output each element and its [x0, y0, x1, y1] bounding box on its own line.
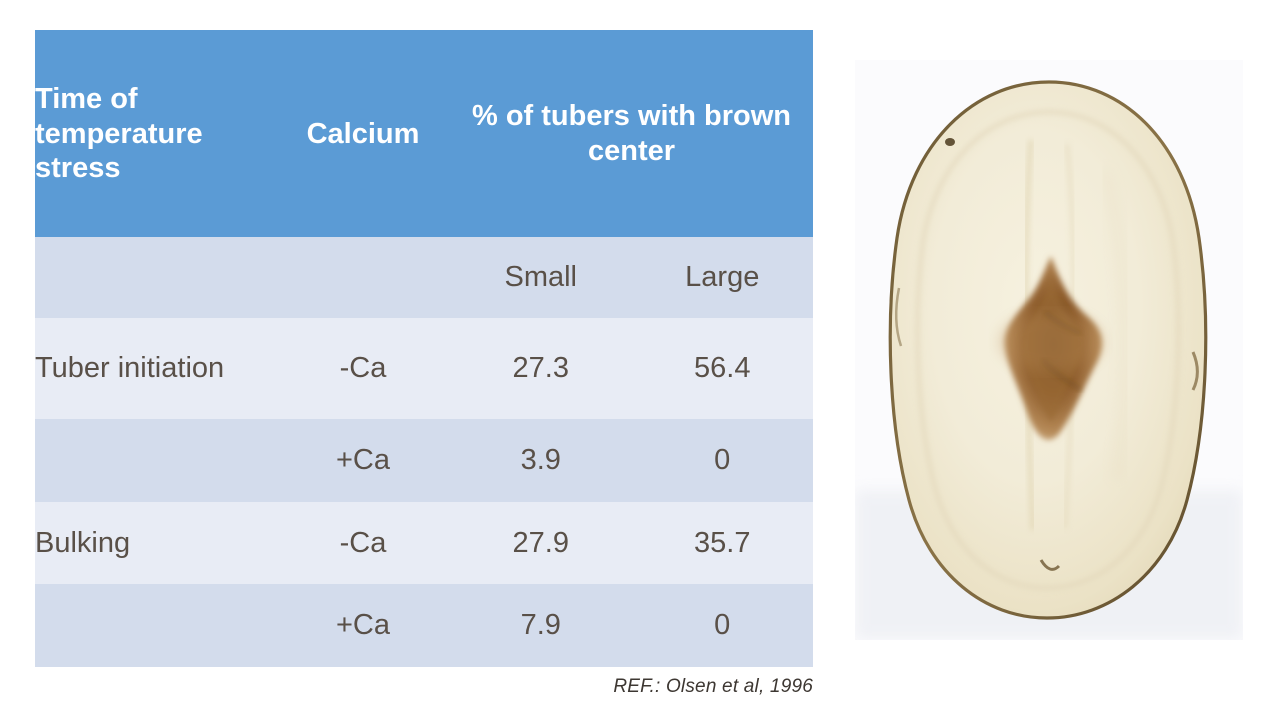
cell-large-1: 56.4 — [632, 318, 814, 420]
reference-caption: REF.: Olsen et al, 1996 — [35, 676, 813, 698]
header-percent-tubers-brown-center: % of tubers with brown center — [450, 30, 813, 237]
cell-stress-blank-2 — [35, 419, 276, 502]
brown-center-table: Time of temperature stress Calcium % of … — [35, 30, 813, 667]
subheader-large: Large — [632, 237, 814, 318]
cell-calcium-plus-4: +Ca — [276, 584, 450, 667]
cell-small-3: 27.9 — [450, 502, 632, 585]
cell-calcium-plus-2: +Ca — [276, 419, 450, 502]
cell-calcium-minus-3: -Ca — [276, 502, 450, 585]
table-header-row: Time of temperature stress Calcium % of … — [35, 30, 813, 237]
subheader-blank-calcium — [276, 237, 450, 318]
table-row: Bulking -Ca 27.9 35.7 — [35, 502, 813, 585]
cell-calcium-minus-1: -Ca — [276, 318, 450, 420]
tuber-eye-upper-left — [945, 138, 955, 146]
header-calcium: Calcium — [276, 30, 450, 237]
table-row: Tuber initiation -Ca 27.3 56.4 — [35, 318, 813, 420]
subheader-blank-stress — [35, 237, 276, 318]
cell-large-3: 35.7 — [632, 502, 814, 585]
potato-cross-section-illustration — [855, 60, 1243, 640]
header-time-of-temperature-stress: Time of temperature stress — [35, 30, 276, 237]
cell-small-2: 3.9 — [450, 419, 632, 502]
cell-large-2: 0 — [632, 419, 814, 502]
table-subheader-row: Small Large — [35, 237, 813, 318]
table-row: +Ca 3.9 0 — [35, 419, 813, 502]
cell-large-4: 0 — [632, 584, 814, 667]
subheader-small: Small — [450, 237, 632, 318]
table-row: +Ca 7.9 0 — [35, 584, 813, 667]
cell-small-1: 27.3 — [450, 318, 632, 420]
cell-stress-blank-4 — [35, 584, 276, 667]
cell-stress-bulking: Bulking — [35, 502, 276, 585]
potato-tuber-photo — [855, 60, 1243, 640]
cell-stress-tuber-initiation: Tuber initiation — [35, 318, 276, 420]
cell-small-4: 7.9 — [450, 584, 632, 667]
